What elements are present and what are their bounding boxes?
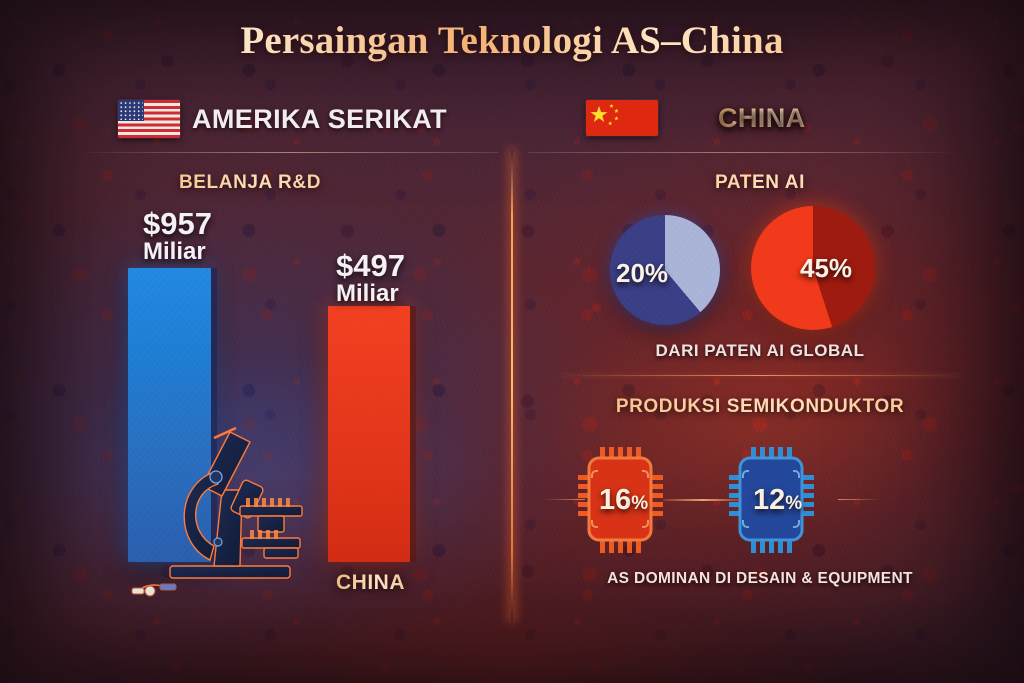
divider-horizontal-right-mid <box>560 375 960 376</box>
header-label-china: CHINA <box>718 103 806 134</box>
divider-vertical-center <box>511 150 513 620</box>
section-title-rd: BELANJA R&D <box>120 172 380 194</box>
page-title: Persaingan Teknologi AS–China <box>0 18 1024 63</box>
section-title-semiconductor: PRODUKSI SEMIKONDUKTOR <box>540 396 980 418</box>
chip-value-china-number: 16 <box>599 484 631 516</box>
chip-value-china-percent: % <box>631 493 648 514</box>
chip-value-us-percent: % <box>785 493 802 514</box>
chip-value-china: 16% <box>599 484 648 517</box>
header-united-states: AMERIKA SERIKAT <box>118 100 447 138</box>
bar-value-china-unit: Miliar <box>336 282 405 307</box>
bar-value-china: $497 Miliar <box>336 250 405 307</box>
semiconductor-caption: AS DOMINAN DI DESAIN & EQUIPMENT <box>540 570 980 588</box>
header-label-united-states: AMERIKA SERIKAT <box>192 104 447 135</box>
divider-horizontal-left <box>78 152 498 153</box>
divider-horizontal-right <box>528 152 958 153</box>
bar-value-china-number: $497 <box>336 250 405 282</box>
pie-label-us: 20% <box>616 258 668 289</box>
us-flag-icon <box>118 100 180 138</box>
china-flag-icon <box>586 100 658 136</box>
chip-value-us: 12% <box>753 484 802 517</box>
section-title-ai-patents: PATEN AI <box>560 172 960 194</box>
microscope-icon <box>118 424 348 604</box>
bar-value-us-unit: Miliar <box>143 240 212 265</box>
chip-link-right <box>838 499 880 500</box>
bar-value-us: $957 Miliar <box>143 208 212 265</box>
bar-value-us-number: $957 <box>143 208 212 240</box>
china-flag-stars-icon <box>586 100 658 136</box>
pie-caption: DARI PATEN AI GLOBAL <box>560 341 960 361</box>
infographic-canvas: Persaingan Teknologi AS–China AMERIKA SE… <box>0 0 1024 683</box>
pie-label-china: 45% <box>800 253 852 284</box>
chip-value-us-number: 12 <box>753 484 785 516</box>
header-china: CHINA <box>586 100 806 136</box>
